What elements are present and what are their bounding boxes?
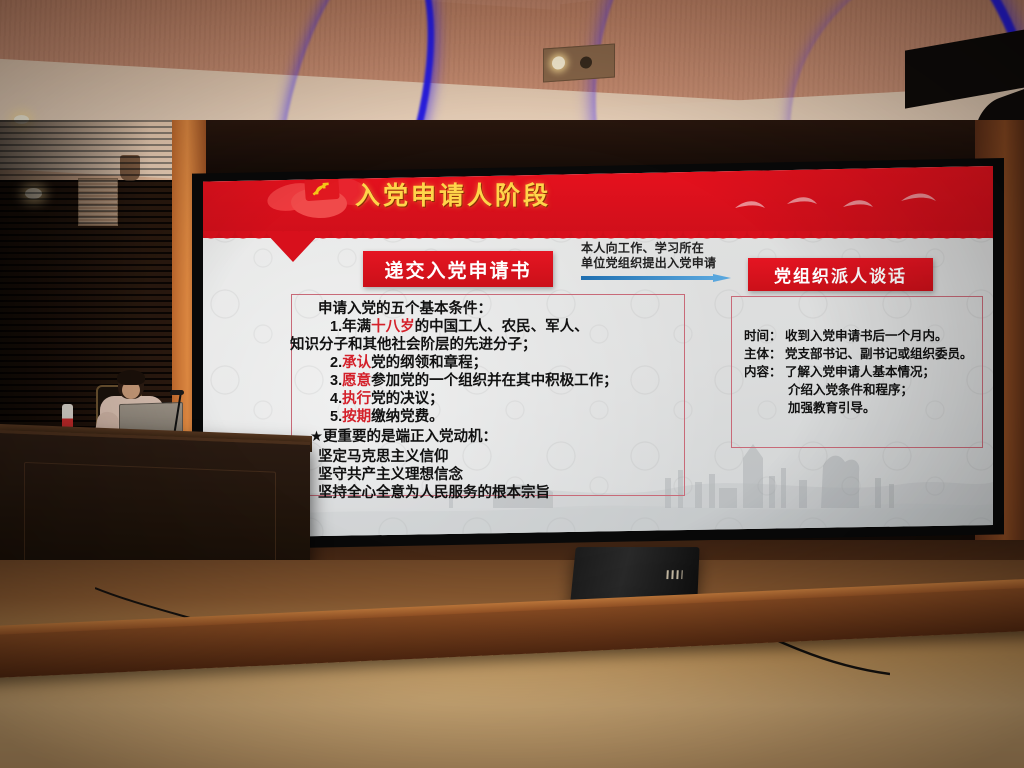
table-row: 主体： 党支部书记、副书记或组织委员。 xyxy=(744,347,973,361)
item-num: 1. xyxy=(330,319,342,335)
tail-line: 坚持全心全意为人民服务的根本宗旨 xyxy=(318,485,710,501)
speaker-logo-icon xyxy=(666,570,682,579)
item-red: 按期 xyxy=(342,409,371,425)
left-content-box: 申请入党的五个基本条件： 1.年满十八岁的中国工人、农民、军人、 知识分子和其他… xyxy=(291,294,685,496)
mid-caption-line2: 单位党组织提出入党申请 xyxy=(581,256,736,271)
tail-line: 坚守共产主义理想信念 xyxy=(318,467,710,483)
item-post: 参加党的一个组织并在其中积极工作； xyxy=(371,373,618,389)
mid-caption: 本人向工作、学习所在 单位党组织提出入党申请 xyxy=(581,241,736,271)
item-post: 缴纳党费。 xyxy=(371,409,444,425)
item-red: 愿意 xyxy=(342,373,371,389)
item-pre: 知识分子和其他社会阶层的先进分子； xyxy=(290,337,537,353)
row-value: 收到入党申请书后一个月内。 xyxy=(785,329,948,343)
item-red: 十八岁 xyxy=(371,319,415,335)
item-num: 4. xyxy=(330,391,342,407)
table-row: 内容： 了解入党申请人基本情况； xyxy=(744,365,935,379)
star-emphasis-line: ★更重要的是端正入党动机： xyxy=(310,429,702,445)
item-num: 5. xyxy=(330,409,342,425)
row-value: 党支部书记、副书记或组织委员。 xyxy=(785,347,973,361)
row-value: 介绍入党条件和程序； xyxy=(788,383,913,397)
row-value: 加强教育引导。 xyxy=(788,401,876,415)
birds-decoration-icon xyxy=(725,188,985,222)
list-item: 2.承认党的纲领和章程； xyxy=(330,355,722,371)
row-value: 了解入党申请人基本情况； xyxy=(785,365,935,379)
item-red: 承认 xyxy=(342,355,371,371)
item-red: 执行 xyxy=(342,391,371,407)
mid-caption-line1: 本人向工作、学习所在 xyxy=(581,241,736,256)
list-item: 知识分子和其他社会阶层的先进分子； xyxy=(290,337,682,353)
row-label: 内容： xyxy=(744,365,782,379)
left-box-title: 申请入党的五个基本条件： xyxy=(318,301,710,317)
microphone-head-icon xyxy=(170,390,184,395)
row-label: 主体： xyxy=(744,347,782,361)
table-row: 介绍入党条件和程序； xyxy=(788,383,913,397)
item-post: 党的纲领和章程； xyxy=(371,355,487,371)
header-party-talk: 党组织派人谈话 xyxy=(748,258,933,291)
slide-canvas: 入党申请人阶段 递交入党申请书 本人向工作、学习所在 单位党组织提出入党申请 xyxy=(203,166,993,538)
item-num: 3. xyxy=(330,373,342,389)
slide-title: 入党申请人阶段 xyxy=(355,176,775,212)
item-post: 的中国工人、农民、军人、 xyxy=(415,319,589,335)
table-row: 加强教育引导。 xyxy=(788,401,876,415)
item-pre: 年满 xyxy=(342,319,371,335)
header-submit-application: 递交入党申请书 xyxy=(363,251,553,287)
row-label: 时间： xyxy=(744,329,782,343)
list-item: 5.按期缴纳党费。 xyxy=(330,409,722,425)
list-item: 1.年满十八岁的中国工人、农民、军人、 xyxy=(330,319,722,335)
blue-arrow-icon xyxy=(581,274,731,282)
item-post: 党的决议； xyxy=(371,391,444,407)
table-row: 时间： 收到入党申请书后一个月内。 xyxy=(744,329,948,343)
item-num: 2. xyxy=(330,355,342,371)
presentation-screen[interactable]: 入党申请人阶段 递交入党申请书 本人向工作、学习所在 单位党组织提出入党申请 xyxy=(203,166,993,538)
list-item: 4.执行党的决议； xyxy=(330,391,722,407)
hammer-sickle-icon xyxy=(304,177,339,201)
list-item: 3.愿意参加党的一个组织并在其中积极工作； xyxy=(330,373,722,389)
ceiling-spot-fixture xyxy=(543,43,615,82)
right-content-box: 时间： 收到入党申请书后一个月内。 主体： 党支部书记、副书记或组织委员。 内容… xyxy=(731,296,983,448)
presenter-hair xyxy=(117,370,145,385)
tail-line: 坚定马克思主义信仰 xyxy=(318,449,710,465)
lecture-hall-photo: 入党申请人阶段 递交入党申请书 本人向工作、学习所在 单位党组织提出入党申请 xyxy=(0,0,1024,768)
